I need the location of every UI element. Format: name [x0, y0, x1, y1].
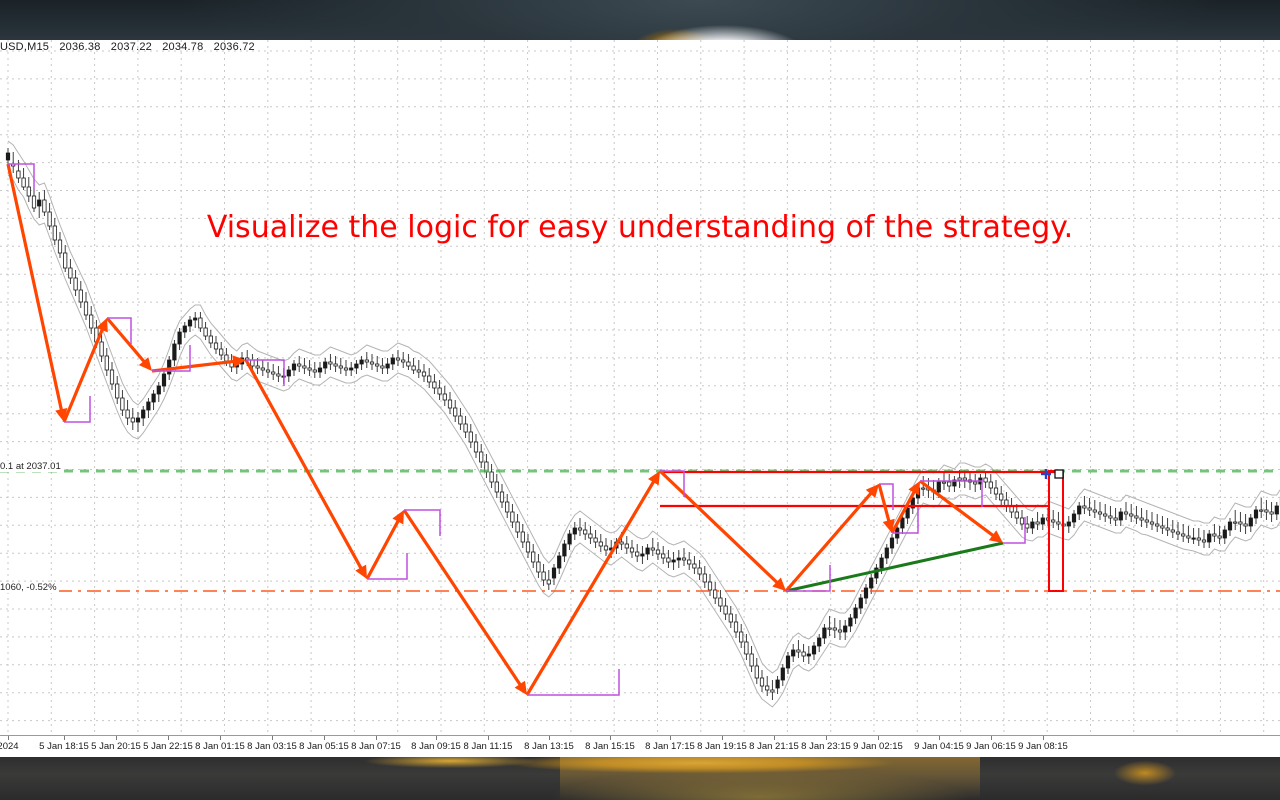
candle-body [771, 690, 774, 692]
candle-body [776, 680, 779, 688]
zigzag-segment[interactable] [660, 471, 781, 586]
candle-body [994, 488, 997, 494]
candle-body [1093, 510, 1096, 512]
candle-body [500, 492, 503, 502]
candle-body [412, 366, 415, 370]
candle-body [1213, 534, 1216, 536]
candle-body [1026, 524, 1029, 528]
candle-body [1270, 512, 1273, 514]
candle-body [162, 374, 165, 386]
time-axis-label: 9 Jan 08:15 [1018, 741, 1068, 752]
candle-body [1124, 512, 1127, 514]
candle-body [225, 355, 228, 361]
candle-body [958, 478, 961, 480]
candle-body [942, 482, 945, 483]
candle-body [594, 538, 597, 542]
time-axis-tickmark [610, 736, 611, 740]
candle-body [344, 368, 347, 370]
candle-body [818, 638, 821, 646]
candle-body [74, 278, 77, 290]
candle-body [422, 372, 425, 376]
candle-body [547, 580, 550, 584]
candle-body [251, 360, 254, 366]
candle-body [38, 200, 41, 206]
time-axis-label: 8 Jan 19:15 [697, 741, 747, 752]
upper-level-label: 0.1 at 2037.01 [0, 461, 63, 472]
candle-body [745, 642, 748, 654]
candle-body [646, 548, 649, 554]
candle-body [625, 544, 628, 548]
candle-body [178, 332, 181, 344]
candle-body [1135, 516, 1138, 518]
candle-body [105, 356, 108, 370]
entry-box[interactable] [1049, 471, 1063, 591]
time-axis-tickmark [8, 736, 9, 740]
candle-body [1166, 528, 1169, 530]
candle-body [298, 364, 301, 366]
candle-body [173, 344, 176, 360]
time-axis-label: 8 Jan 13:15 [524, 741, 574, 752]
candle-body [220, 349, 223, 355]
candle-body [1020, 518, 1023, 524]
candle-body [142, 410, 145, 418]
candle-body [376, 364, 379, 366]
candle-body [724, 606, 727, 614]
candle-body [854, 608, 857, 618]
candle-body [870, 578, 873, 588]
time-axis-label: 8 Jan 05:15 [299, 741, 349, 752]
candle-body [1041, 518, 1044, 524]
candle-body [984, 478, 987, 482]
candle-body [256, 366, 259, 368]
candle-body [261, 368, 264, 370]
candle-body [1171, 530, 1174, 532]
candle-body [781, 668, 784, 680]
candle-body [688, 560, 691, 564]
candle-body [1104, 514, 1107, 516]
candle-body [672, 560, 675, 562]
candle-body [1057, 522, 1060, 524]
candle-body [64, 253, 67, 268]
candle-body [1098, 512, 1101, 514]
candle-body [1249, 518, 1252, 526]
gold-sheen [560, 757, 980, 800]
envelope-lower [8, 175, 1280, 707]
time-axis-label: 8 Jan 07:15 [351, 741, 401, 752]
candle-body [1202, 540, 1205, 542]
candle-body [1218, 536, 1221, 538]
chart-plot-area[interactable] [0, 40, 1280, 735]
top-photo-banner [0, 0, 1280, 40]
time-axis-tickmark [64, 736, 65, 740]
candle-body [469, 432, 472, 442]
candle-body [662, 554, 665, 558]
chart-canvas [0, 40, 1280, 735]
candle-body [1156, 524, 1159, 526]
candle-body [1015, 512, 1018, 518]
candle-body [1000, 494, 1003, 500]
time-axis-tickmark [220, 736, 221, 740]
candle-body [396, 358, 399, 360]
support-trendline[interactable] [786, 543, 1003, 591]
candle-body [131, 418, 134, 422]
candle-body [537, 562, 540, 572]
candle-body [677, 558, 680, 560]
candle-body [1067, 522, 1070, 526]
candle-body [495, 482, 498, 492]
time-axis-tickmark [670, 736, 671, 740]
candle-body [6, 153, 9, 160]
zigzag-segment[interactable] [246, 360, 364, 573]
time-axis-tickmark [324, 736, 325, 740]
zigzag-segment[interactable] [527, 477, 656, 695]
time-axis[interactable]: 20245 Jan 18:155 Jan 20:155 Jan 22:158 J… [0, 735, 1280, 757]
candle-body [1254, 510, 1257, 518]
zigzag-segment[interactable] [920, 481, 997, 539]
time-axis-label: 9 Jan 02:15 [853, 741, 903, 752]
candle-body [703, 574, 706, 582]
candle-body [313, 370, 316, 372]
candle-body [22, 178, 25, 187]
candle-body [417, 370, 420, 372]
candle-body [885, 548, 888, 558]
candle-body [656, 550, 659, 554]
candle-body [734, 622, 737, 632]
time-axis-label: 8 Jan 11:15 [464, 741, 513, 752]
quote-open: 2036.38 [59, 41, 100, 53]
time-axis-tickmark [116, 736, 117, 740]
candle-body [584, 530, 587, 534]
candle-body [532, 552, 535, 562]
time-axis-tickmark [939, 736, 940, 740]
candle-body [901, 518, 904, 528]
time-axis-label: 9 Jan 06:15 [966, 741, 1016, 752]
candle-body [84, 302, 87, 315]
candle-body [214, 343, 217, 349]
candle-body [651, 548, 654, 550]
candle-body [880, 558, 883, 568]
candle-body [1161, 526, 1164, 528]
candle-body [474, 442, 477, 452]
candle-body [428, 376, 431, 382]
candle-body [433, 382, 436, 388]
candle-body [573, 528, 576, 534]
candle-body [1176, 532, 1179, 534]
candle-body [448, 400, 451, 408]
candle-body [802, 652, 805, 656]
chart-grid [0, 40, 1280, 735]
candle-body [1145, 520, 1148, 522]
candle-body [1119, 512, 1122, 520]
candle-body [568, 534, 571, 544]
candle-body [974, 482, 977, 484]
candle-body [1078, 506, 1081, 514]
candle-body [188, 320, 191, 326]
candle-body [506, 502, 509, 512]
time-axis-tickmark [991, 736, 992, 740]
candle-body [157, 386, 160, 394]
quote-low: 2034.78 [162, 41, 203, 53]
quote-close: 2036.72 [214, 41, 255, 53]
candle-body [641, 554, 644, 556]
candle-body [1182, 534, 1185, 536]
candle-body [1083, 506, 1086, 508]
candle-body [922, 488, 925, 489]
candle-body [750, 654, 753, 666]
candle-body [324, 362, 327, 368]
candle-body [1031, 522, 1034, 528]
candle-body [1239, 522, 1242, 524]
candle-body [168, 360, 171, 374]
candle-body [355, 364, 358, 368]
time-axis-tickmark [376, 736, 377, 740]
candle-body [438, 388, 441, 394]
time-axis-label: 5 Jan 22:15 [143, 741, 193, 752]
time-axis-label: 8 Jan 09:15 [411, 741, 461, 752]
candle-body [542, 572, 545, 580]
candle-body [402, 360, 405, 362]
candle-body [100, 342, 103, 356]
candle-body [589, 534, 592, 538]
time-axis-tickmark [436, 736, 437, 740]
candle-body [32, 196, 35, 208]
candle-body [620, 542, 623, 544]
candle-body [740, 632, 743, 642]
candle-body [69, 268, 72, 278]
candle-body [199, 318, 202, 328]
candle-body [1275, 506, 1278, 514]
candle-body [719, 598, 722, 606]
candle-body [1114, 518, 1117, 520]
zigzag-segment[interactable] [152, 361, 239, 371]
candle-body [1228, 522, 1231, 530]
time-axis-label: 5 Jan 18:15 [39, 741, 89, 752]
candle-body [152, 394, 155, 402]
candle-body [828, 628, 831, 629]
candle-body [989, 482, 992, 488]
candle-body [350, 368, 353, 370]
candle-body [859, 598, 862, 608]
candle-body [121, 398, 124, 410]
candle-body [126, 410, 129, 418]
candle-body [27, 187, 30, 196]
lower-level-label: 1060, -0.52% [0, 582, 59, 593]
candle-body [287, 370, 290, 376]
time-axis-label: 8 Jan 15:15 [585, 741, 635, 752]
candle-body [682, 558, 685, 560]
time-axis-tickmark [549, 736, 550, 740]
candle-body [194, 318, 197, 320]
candle-body [391, 358, 394, 364]
time-axis-label: 8 Jan 17:15 [645, 741, 695, 752]
trading-chart[interactable]: USD,M15 2036.38 2037.22 2034.78 2036.72 … [0, 40, 1280, 757]
candle-body [729, 614, 732, 622]
candle-body [79, 290, 82, 302]
headline-text: Visualize the logic for easy understandi… [0, 210, 1280, 245]
candle-body [370, 362, 373, 364]
time-axis-tickmark [774, 736, 775, 740]
candle-body [563, 544, 566, 556]
quote-high: 2037.22 [111, 41, 152, 53]
candle-body [1223, 530, 1226, 538]
time-axis-tickmark [488, 736, 489, 740]
candle-body [1187, 536, 1190, 538]
candle-body [1208, 534, 1211, 542]
candle-body [937, 482, 940, 492]
candle-body [864, 588, 867, 598]
candle-body [599, 542, 602, 546]
candle-body [490, 472, 493, 482]
candle-body [1072, 514, 1075, 522]
candle-body [1140, 518, 1143, 520]
candle-body [636, 552, 639, 556]
candle-body [693, 564, 696, 568]
candle-body [334, 364, 337, 366]
candle-body [209, 336, 212, 343]
candle-body [147, 402, 150, 410]
candle-body [365, 360, 368, 362]
candle-body [292, 364, 295, 370]
screenshot-root: USD,M15 2036.38 2037.22 2034.78 2036.72 … [0, 0, 1280, 800]
candle-body [1260, 510, 1263, 511]
candle-body [1036, 522, 1039, 524]
candle-body [1192, 538, 1195, 539]
candle-body [760, 678, 763, 686]
candle-body [766, 686, 769, 690]
candle-body [329, 362, 332, 364]
candle-body [277, 374, 280, 376]
candle-body [516, 522, 519, 532]
candle-body [963, 478, 966, 480]
candle-body [407, 362, 410, 366]
candle-body [849, 618, 852, 626]
time-axis-tickmark [168, 736, 169, 740]
candle-body [948, 482, 951, 486]
candle-body [1130, 514, 1133, 516]
candle-body [890, 538, 893, 548]
candle-body [604, 546, 607, 550]
zigzag-segment[interactable] [404, 510, 523, 689]
candle-body [204, 328, 207, 336]
candle-body [807, 654, 810, 656]
last-price-marker [1055, 470, 1063, 478]
time-axis-label: 2024 [0, 741, 19, 752]
candle-body [1197, 538, 1200, 540]
time-axis-label: 8 Jan 21:15 [749, 741, 799, 752]
candle-body [792, 650, 795, 656]
time-axis-label: 5 Jan 20:15 [91, 741, 141, 752]
candle-body [708, 582, 711, 590]
symbol-quote-bar: USD,M15 2036.38 2037.22 2034.78 2036.72 [0, 41, 262, 55]
candle-body [1150, 522, 1153, 524]
candle-body [823, 628, 826, 638]
candle-body [1234, 522, 1237, 523]
time-axis-tickmark [878, 736, 879, 740]
candle-body [303, 366, 306, 368]
candle-body [464, 424, 467, 432]
candle-body [630, 548, 633, 552]
candle-body [272, 372, 275, 374]
candle-body [552, 568, 555, 578]
candle-body [110, 370, 113, 384]
candle-body [667, 558, 670, 562]
candle-body [578, 528, 581, 530]
candle-body [480, 452, 483, 462]
bottom-photo-banner [0, 757, 1280, 800]
candle-body [90, 315, 93, 328]
time-axis-label: 8 Jan 01:15 [195, 741, 245, 752]
candle-body [360, 360, 363, 364]
time-axis-label: 8 Jan 03:15 [247, 741, 297, 752]
candle-body [521, 532, 524, 542]
candle-body [381, 366, 384, 368]
swing-bracket [404, 510, 440, 536]
candle-body [17, 171, 20, 178]
candle-body [183, 326, 186, 332]
candle-body [116, 384, 119, 398]
candle-body [443, 394, 446, 400]
candle-body [308, 368, 311, 370]
candle-body [266, 370, 269, 372]
candle-body [797, 650, 800, 652]
candle-body [812, 646, 815, 654]
quote-symbol: USD,M15 [0, 41, 49, 53]
candle-body [1088, 508, 1091, 510]
candle-body [838, 630, 841, 632]
candle-body [1052, 520, 1055, 522]
candle-body [755, 666, 758, 678]
time-axis-tickmark [826, 736, 827, 740]
candle-body [454, 408, 457, 416]
time-axis-tickmark [722, 736, 723, 740]
candle-body [511, 512, 514, 522]
candle-body [558, 556, 561, 568]
candle-body [526, 542, 529, 552]
candle-body [339, 366, 342, 368]
time-axis-label: 8 Jan 23:15 [801, 741, 851, 752]
candle-body [136, 418, 139, 422]
candle-body [318, 368, 321, 372]
candle-body [1244, 524, 1247, 526]
candle-body [833, 628, 836, 630]
candle-body [1109, 516, 1112, 518]
candle-body [844, 626, 847, 632]
candle-body [386, 364, 389, 368]
candle-body [786, 656, 789, 668]
zigzag-segment[interactable] [64, 325, 104, 422]
candle-body [698, 568, 701, 574]
time-axis-tickmark [272, 736, 273, 740]
time-axis-tickmark [1043, 736, 1044, 740]
time-axis-label: 9 Jan 04:15 [914, 741, 964, 752]
candle-body [1265, 510, 1268, 512]
candle-body [459, 416, 462, 424]
